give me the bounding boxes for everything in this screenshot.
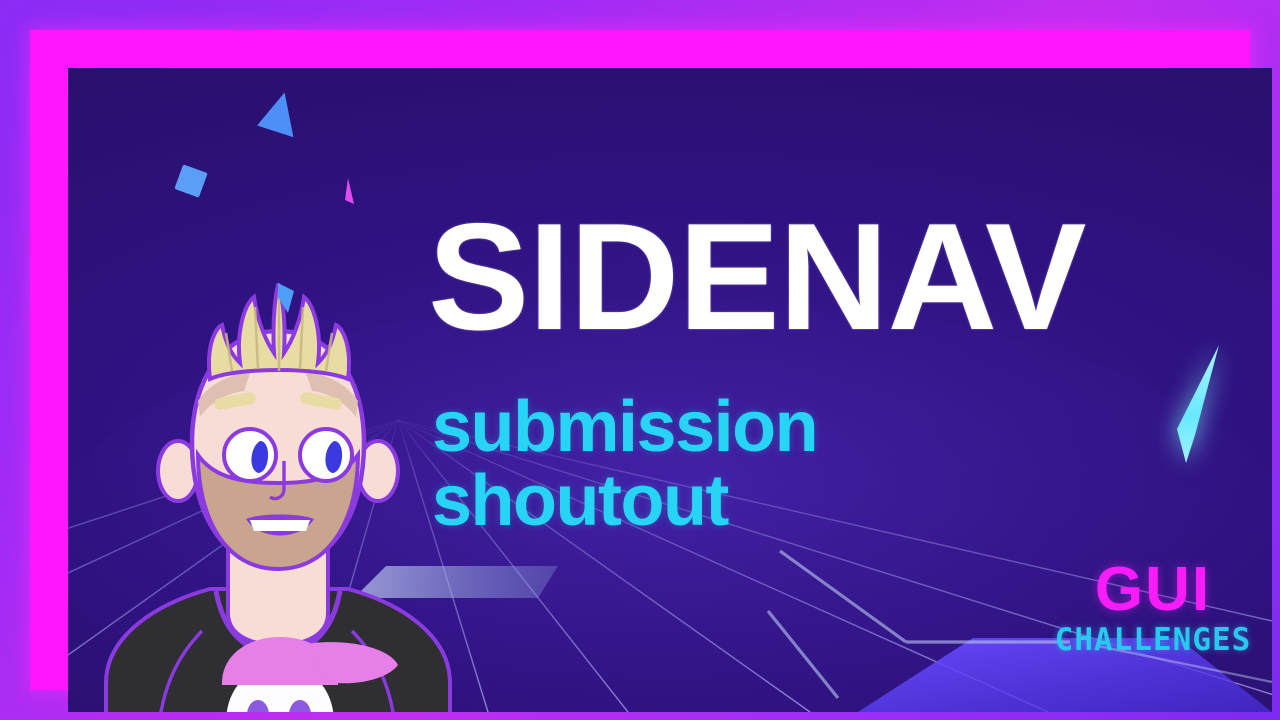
confetti-sliver-magenta xyxy=(326,168,370,224)
cartoon-avatar-mohawk xyxy=(98,283,458,712)
avatar-beard xyxy=(198,455,358,569)
logo-secondary-text: CHALLENGES xyxy=(1028,625,1272,656)
avatar-eyebrow-left xyxy=(213,391,256,410)
logo-primary-text: GUI xyxy=(1028,560,1272,621)
shirt-skull-graphic xyxy=(222,637,398,712)
avatar-eye-left xyxy=(224,429,276,481)
avatar-collar xyxy=(216,591,340,653)
avatar-mouth xyxy=(246,515,314,536)
avatar-mohawk xyxy=(209,283,349,379)
avatar-neck xyxy=(228,551,328,645)
avatar-head xyxy=(158,283,398,569)
confetti-square-blue xyxy=(160,150,220,210)
cyan-shard-icon xyxy=(1153,323,1263,503)
mohawk-blue-triangle-icon xyxy=(278,283,294,313)
stage-background: SIDENAV submission shoutout GUI CHALLENG… xyxy=(68,68,1272,712)
avatar-shirt xyxy=(106,589,450,712)
thumbnail-canvas: SIDENAV submission shoutout GUI CHALLENG… xyxy=(0,0,1280,720)
gui-challenges-logo: GUI CHALLENGES xyxy=(1028,560,1272,656)
neon-frame-border: SIDENAV submission shoutout GUI CHALLENG… xyxy=(30,30,1250,690)
floor-streak-right xyxy=(768,551,1070,698)
confetti-triangle-blue xyxy=(246,86,316,146)
page-title: SIDENAV xyxy=(428,201,1085,353)
avatar-eye-right xyxy=(300,429,352,481)
floor-tile-left xyxy=(354,566,558,598)
page-subtitle: submission shoutout xyxy=(432,390,817,538)
avatar-eyebrow-right xyxy=(299,391,342,410)
